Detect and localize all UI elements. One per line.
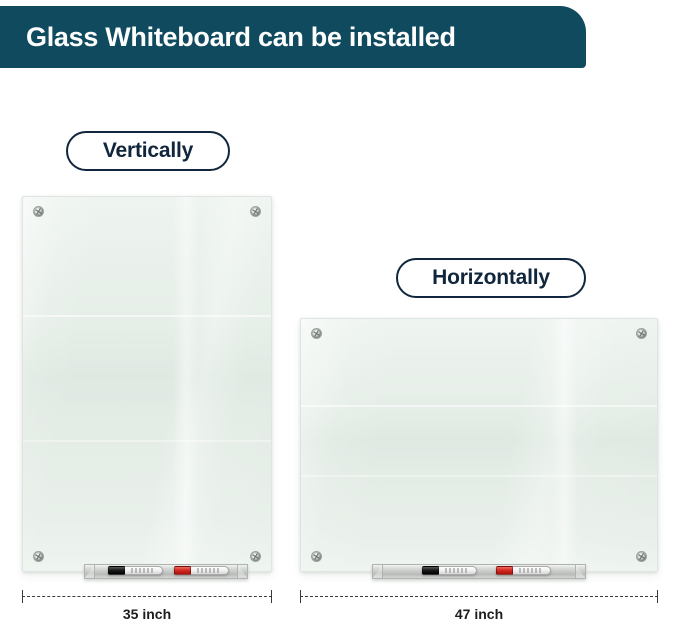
mounting-screw-icon bbox=[636, 551, 647, 562]
red-marker bbox=[496, 566, 551, 575]
page-title: Glass Whiteboard can be installed bbox=[0, 22, 456, 53]
mounting-screw-icon bbox=[250, 206, 261, 217]
marker-label bbox=[445, 568, 469, 573]
black-marker bbox=[108, 566, 163, 575]
mounting-screw-icon bbox=[311, 328, 322, 339]
label-pill-vertically-text: Vertically bbox=[103, 139, 193, 163]
dimension-endcap-right bbox=[271, 590, 272, 603]
red-marker bbox=[174, 566, 229, 575]
header-banner: Glass Whiteboard can be installed bbox=[0, 6, 586, 68]
vertical-whiteboard-group bbox=[22, 196, 272, 572]
marker-cap-red bbox=[496, 566, 513, 575]
label-pill-horizontally: Horizontally bbox=[396, 258, 586, 298]
dimension-dashed-line bbox=[22, 596, 272, 597]
mounting-screw-icon bbox=[250, 551, 261, 562]
label-pill-horizontally-text: Horizontally bbox=[432, 266, 550, 290]
label-pill-vertically: Vertically bbox=[66, 131, 230, 171]
dimension-endcap-left bbox=[300, 590, 301, 603]
glass-reflection-band bbox=[301, 405, 657, 407]
marker-label bbox=[519, 568, 543, 573]
mounting-screw-icon bbox=[636, 328, 647, 339]
glass-reflection-band bbox=[301, 475, 657, 477]
dimension-endcap-right bbox=[657, 590, 658, 603]
marker-barrel bbox=[439, 566, 477, 575]
marker-barrel bbox=[191, 566, 229, 575]
horizontal-whiteboard-group bbox=[300, 318, 658, 572]
black-marker bbox=[422, 566, 477, 575]
marker-cap-red bbox=[174, 566, 191, 575]
glass-reflection-band bbox=[23, 315, 271, 317]
horizontal-marker-tray bbox=[372, 564, 586, 579]
dimension-line-horizontal-board: 47 inch bbox=[300, 590, 658, 604]
marker-barrel bbox=[125, 566, 163, 575]
marker-label bbox=[197, 568, 221, 573]
glass-sheen bbox=[551, 319, 577, 571]
marker-cap-black bbox=[108, 566, 125, 575]
marker-barrel bbox=[513, 566, 551, 575]
mounting-screw-icon bbox=[33, 551, 44, 562]
mounting-screw-icon bbox=[311, 551, 322, 562]
marker-cap-black bbox=[422, 566, 439, 575]
dimension-line-vertical-board: 35 inch bbox=[22, 590, 272, 604]
dimension-label-35-inch: 35 inch bbox=[22, 606, 272, 622]
dimension-label-47-inch: 47 inch bbox=[300, 606, 658, 622]
dimension-endcap-left bbox=[22, 590, 23, 603]
dimension-dashed-line bbox=[300, 596, 658, 597]
vertical-whiteboard-surface bbox=[22, 196, 272, 572]
infographic-canvas: Glass Whiteboard can be installed Vertic… bbox=[0, 0, 679, 625]
glass-sheen bbox=[173, 197, 199, 571]
horizontal-whiteboard-surface bbox=[300, 318, 658, 572]
mounting-screw-icon bbox=[33, 206, 44, 217]
marker-label bbox=[131, 568, 155, 573]
glass-reflection-band bbox=[23, 440, 271, 442]
